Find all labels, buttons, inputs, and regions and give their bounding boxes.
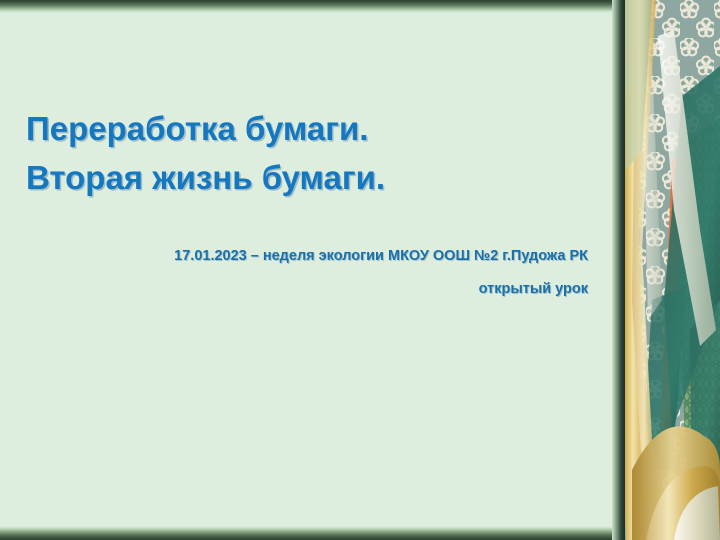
panel-top-edge-shading <box>0 0 612 13</box>
subtitle-line-2: открытый урок <box>26 273 588 306</box>
title-line-2: Вторая жизнь бумаги. <box>26 153 586 202</box>
slide-content-panel: Переработка бумаги. Вторая жизнь бумаги.… <box>0 0 612 540</box>
panel-bottom-edge-shading <box>0 526 612 540</box>
floral-ribbon-border-icon <box>612 0 720 540</box>
title-line-1: Переработка бумаги. <box>26 104 586 153</box>
slide-subtitle: 17.01.2023 – неделя экологии МКОУ ООШ №2… <box>26 240 588 306</box>
subtitle-line-1: 17.01.2023 – неделя экологии МКОУ ООШ №2… <box>26 240 588 273</box>
decorative-border <box>612 0 720 540</box>
presentation-slide: Переработка бумаги. Вторая жизнь бумаги.… <box>0 0 720 540</box>
slide-title: Переработка бумаги. Вторая жизнь бумаги. <box>26 104 586 202</box>
